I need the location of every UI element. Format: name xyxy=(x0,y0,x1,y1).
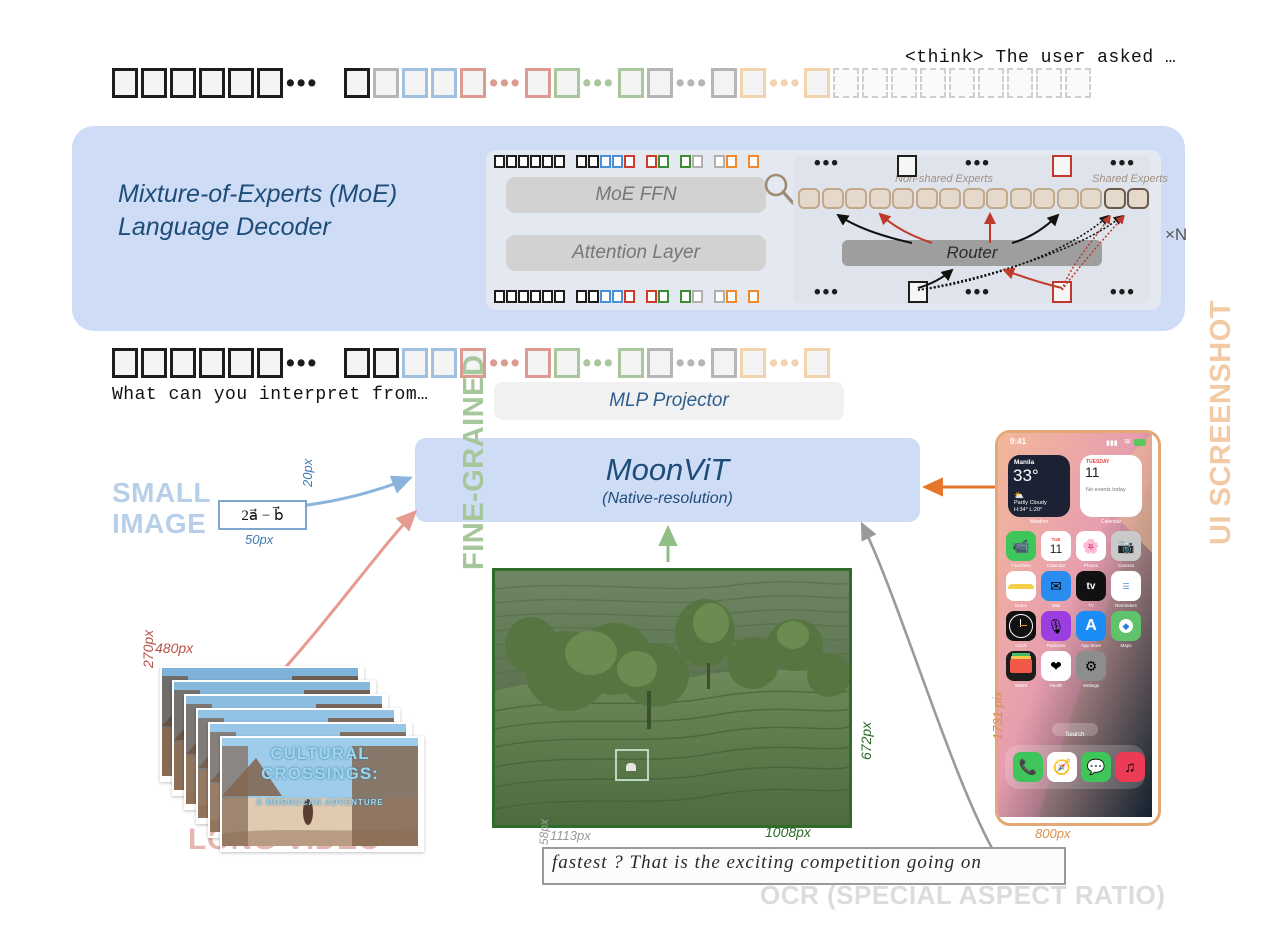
app-icon-photos[interactable]: 🌸Photos xyxy=(1076,531,1110,568)
wifi-icon: ≋ xyxy=(1124,437,1131,446)
mlp-projector-block: MLP Projector xyxy=(494,382,844,420)
app-icon-settings[interactable]: ⚙Settings xyxy=(1076,651,1110,688)
ui-screenshot-image: 9:41 ▮▮▮ ≋ Manila 33° ⛅ Partly Cloudy H:… xyxy=(995,430,1161,826)
small-image-width-label: 50px xyxy=(245,532,273,547)
maps-icon: ◆ xyxy=(1111,611,1141,641)
app-icon-app-store[interactable]: AApp Store xyxy=(1076,611,1110,648)
token-box-black xyxy=(373,348,399,378)
dock-icon-phone[interactable]: 📞 xyxy=(1013,752,1043,782)
token-box-red xyxy=(525,348,551,378)
shared-expert[interactable] xyxy=(1127,188,1149,209)
moe-dots-bottom-1: ••• xyxy=(814,282,840,304)
app-icon-facetime[interactable]: 📹FaceTime xyxy=(1006,531,1040,568)
small-image-formula: 2a⃗ − b⃗ xyxy=(218,500,307,530)
moonvit-subtitle: (Native-resolution) xyxy=(602,490,733,508)
token-ellipsis: ••• xyxy=(286,353,318,373)
status-time: 9:41 xyxy=(1010,437,1026,446)
shared-expert[interactable] xyxy=(1104,188,1126,209)
weather-widget-caption: Weather xyxy=(1008,519,1070,525)
small-image-label: SMALL IMAGE xyxy=(112,477,211,539)
token-box-blue xyxy=(402,348,428,378)
moe-dots-top-2: ••• xyxy=(965,153,991,175)
video-frame: CULTURALCROSSINGS:A MOROCCAN ADVENTURE xyxy=(220,736,424,852)
video-title-overlay: CULTURALCROSSINGS:A MOROCCAN ADVENTURE xyxy=(222,744,418,807)
battery-icon xyxy=(1134,439,1146,446)
notes-icon xyxy=(1006,571,1036,601)
token-box-green xyxy=(554,348,580,378)
dock-icon-safari[interactable]: 🧭 xyxy=(1047,752,1077,782)
fine-grained-width-label: 1008px xyxy=(765,824,811,840)
token-ellipsis: ••• xyxy=(583,353,615,373)
app-label: Camera xyxy=(1111,563,1141,568)
app-label: Podcasts xyxy=(1041,643,1071,648)
small-image-height-label: 20px xyxy=(300,459,315,487)
long-video-frame-stack: CULTURALCROSSINGS:A MOROCCAN ADVENTURE xyxy=(160,666,460,826)
appstore-icon: A xyxy=(1076,611,1106,641)
cellular-icon: ▮▮▮ xyxy=(1106,439,1118,447)
photos-icon: 🌸 xyxy=(1076,531,1106,561)
calendar-icon: TUE11 xyxy=(1041,531,1071,561)
app-icon-mail[interactable]: ✉Mail xyxy=(1041,571,1075,608)
non-shared-expert[interactable] xyxy=(963,188,985,209)
prompt-text: What can you interpret from… xyxy=(112,385,428,405)
dock-icon-messages[interactable]: 💬 xyxy=(1081,752,1111,782)
heart-icon: ❤ xyxy=(1041,651,1071,681)
weather-condition: Partly Cloudy xyxy=(1014,500,1047,506)
video-title-line1: CULTURAL xyxy=(222,744,418,764)
token-ellipsis: ••• xyxy=(769,353,801,373)
non-shared-expert[interactable] xyxy=(986,188,1008,209)
app-label: App Store xyxy=(1076,643,1106,648)
app-label: Health xyxy=(1041,683,1071,688)
tv-icon: tv xyxy=(1076,571,1106,601)
wallet-icon xyxy=(1006,651,1036,681)
non-shared-expert[interactable] xyxy=(798,188,820,209)
moe-top-routed-token-red xyxy=(1052,155,1072,177)
token-box-black xyxy=(112,348,138,378)
fine-grained-crop-box xyxy=(615,749,649,781)
app-label: Wallet xyxy=(1006,683,1036,688)
search-pill-label: Search xyxy=(1065,732,1084,738)
weather-widget[interactable]: Manila 33° ⛅ Partly Cloudy H:34° L:20° xyxy=(1008,455,1070,517)
token-ellipsis: ••• xyxy=(676,353,708,373)
non-shared-expert[interactable] xyxy=(822,188,844,209)
token-box-black xyxy=(141,348,167,378)
podcasts-icon: 🎙 xyxy=(1041,611,1071,641)
moe-bottom-routed-token-black xyxy=(908,281,928,303)
mail-icon: ✉ xyxy=(1041,571,1071,601)
app-label: Clock xyxy=(1006,643,1036,648)
reminders-icon: ☰ xyxy=(1111,571,1141,601)
app-icon-wallet[interactable]: Wallet xyxy=(1006,651,1040,688)
moe-top-routed-token-black xyxy=(897,155,917,177)
ui-screenshot-width-label: 800px xyxy=(1035,826,1070,841)
token-box-black xyxy=(257,348,283,378)
fine-grained-image xyxy=(492,568,852,828)
app-icon-tv[interactable]: tvTV xyxy=(1076,571,1110,608)
calendar-widget[interactable]: TUESDAY 11 No events today xyxy=(1080,455,1142,517)
token-box-black xyxy=(228,348,254,378)
calendar-widget-caption: Calendar xyxy=(1080,519,1142,525)
token-box-black xyxy=(344,348,370,378)
camera-icon: 📷 xyxy=(1111,531,1141,561)
ocr-height-label: 58px xyxy=(537,819,551,845)
token-box-gray xyxy=(711,348,737,378)
calendar-icon-day: 11 xyxy=(1050,543,1062,555)
app-icon-podcasts[interactable]: 🎙Podcasts xyxy=(1041,611,1075,648)
app-icon-maps[interactable]: ◆Maps xyxy=(1111,611,1145,648)
token-box-orange xyxy=(740,348,766,378)
small-image-label-line1: SMALL xyxy=(112,477,211,508)
ui-screenshot-height-label: 1731 pix xyxy=(990,691,1005,740)
app-label: Reminders xyxy=(1111,603,1141,608)
non-shared-expert[interactable] xyxy=(1010,188,1032,209)
small-image-label-line2: IMAGE xyxy=(112,508,211,539)
moe-dots-bottom-2: ••• xyxy=(965,282,991,304)
fine-grained-label: FINE-GRAINED xyxy=(458,355,491,570)
ocr-width-label: 1113px xyxy=(550,828,591,843)
non-shared-expert[interactable] xyxy=(939,188,961,209)
app-icon-clock[interactable]: Clock xyxy=(1006,611,1040,648)
search-pill[interactable]: Search xyxy=(1052,723,1098,736)
dock-icon-music[interactable]: ♫ xyxy=(1115,752,1145,782)
app-icon-health[interactable]: ❤Health xyxy=(1041,651,1075,688)
long-video-width-label: 480px xyxy=(155,640,193,656)
app-icon-notes[interactable]: Notes xyxy=(1006,571,1040,608)
moe-dots-top-1: ••• xyxy=(814,153,840,175)
ocr-handwriting-text: fastest ? That is the exciting competiti… xyxy=(552,852,982,874)
video-title-line2: CROSSINGS: xyxy=(222,764,418,784)
non-shared-expert[interactable] xyxy=(1057,188,1079,209)
app-label: Photos xyxy=(1076,563,1106,568)
weather-city: Manila xyxy=(1014,459,1034,466)
app-icon-calendar[interactable]: TUE11Calendar xyxy=(1041,531,1075,568)
non-shared-expert[interactable] xyxy=(916,188,938,209)
non-shared-expert[interactable] xyxy=(1080,188,1102,209)
status-bar: 9:41 ▮▮▮ ≋ xyxy=(998,437,1152,449)
clock-icon xyxy=(1006,611,1036,641)
long-video-height-label: 270px xyxy=(140,630,156,668)
moe-dots-top-3: ••• xyxy=(1110,153,1136,175)
app-label: Calendar xyxy=(1041,563,1071,568)
repeat-count-label: ×N xyxy=(1165,225,1187,245)
app-label: Maps xyxy=(1111,643,1141,648)
router-bar: Router xyxy=(842,240,1102,266)
calendar-day: 11 xyxy=(1085,464,1100,480)
non-shared-expert[interactable] xyxy=(869,188,891,209)
non-shared-expert[interactable] xyxy=(892,188,914,209)
moonvit-title: MoonViT xyxy=(606,452,730,488)
app-icon-reminders[interactable]: ☰Reminders xyxy=(1111,571,1145,608)
ui-screenshot-label: UI SCREENSHOT xyxy=(1205,300,1238,545)
video-title-line3: A MOROCCAN ADVENTURE xyxy=(222,798,418,807)
token-box-gray xyxy=(647,348,673,378)
dock: 📞🧭💬♫ xyxy=(1005,745,1145,789)
non-shared-expert[interactable] xyxy=(1033,188,1055,209)
cloud-sun-icon: ⛅ xyxy=(1014,491,1024,500)
token-ellipsis: ••• xyxy=(489,353,521,373)
app-label: Settings xyxy=(1076,683,1106,688)
token-box-green xyxy=(618,348,644,378)
token-box-orange xyxy=(804,348,830,378)
weather-range: H:34° L:20° xyxy=(1014,507,1042,513)
app-icon-camera[interactable]: 📷Camera xyxy=(1111,531,1145,568)
app-label: Mail xyxy=(1041,603,1071,608)
app-label: TV xyxy=(1076,603,1106,608)
token-box-black xyxy=(170,348,196,378)
non-shared-expert[interactable] xyxy=(845,188,867,209)
calendar-events: No events today xyxy=(1086,487,1126,493)
weather-temperature: 33° xyxy=(1013,466,1039,486)
ocr-section-label: OCR (SPECIAL ASPECT RATIO) xyxy=(760,880,1165,911)
video-icon: 📹 xyxy=(1006,531,1036,561)
gear-icon: ⚙ xyxy=(1076,651,1106,681)
moe-dots-bottom-3: ••• xyxy=(1110,282,1136,304)
app-label: FaceTime xyxy=(1006,563,1036,568)
app-label: Notes xyxy=(1006,603,1036,608)
token-box-blue xyxy=(431,348,457,378)
moe-bottom-routed-token-red xyxy=(1052,281,1072,303)
token-box-black xyxy=(199,348,225,378)
fine-grained-height-label: 672px xyxy=(858,722,874,760)
